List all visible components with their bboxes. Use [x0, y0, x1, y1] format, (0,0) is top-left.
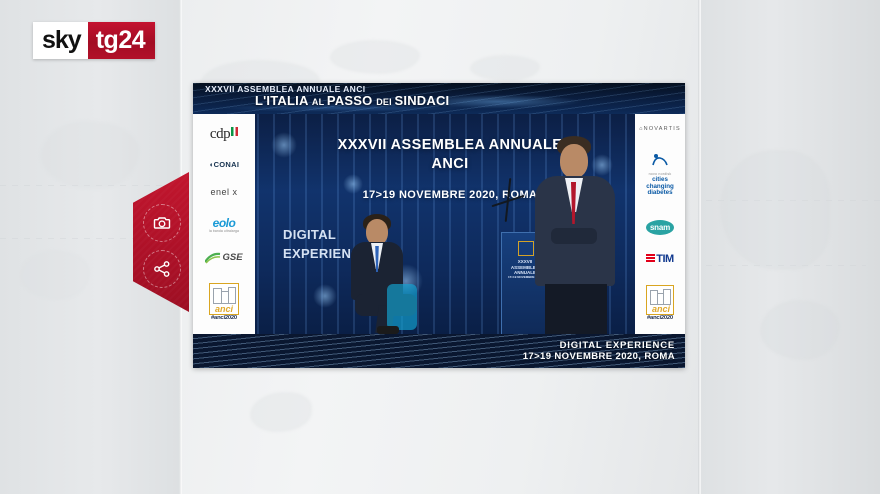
- video-frame[interactable]: XXXVII ASSEMBLEA ANNUALE ANCI L'ITALIA A…: [193, 83, 685, 368]
- sponsor-column-right: ⌂NOVARTIS novo nordisk cities changing d…: [635, 114, 685, 334]
- panel-divider-right: [698, 0, 701, 494]
- stage-area: cdp ◖CONAI enel x eolo la banda ultralar…: [193, 114, 685, 334]
- seated-panellist: [333, 214, 425, 334]
- anci-wordmark: anci: [211, 305, 237, 314]
- stage-screen: XXXVII ASSEMBLEA ANNUALE ANCI 17>19 NOVE…: [255, 114, 635, 334]
- standing-speaker: [523, 136, 633, 334]
- novo-nordisk-bull-icon: [650, 152, 670, 168]
- sponsor-eolo: eolo la banda ultralarga: [209, 217, 239, 233]
- banner-italia: L'ITALIA: [255, 93, 312, 108]
- anci-logo-icon: anci: [646, 285, 674, 315]
- camera-button[interactable]: [143, 204, 181, 242]
- sponsor-snam: snam: [646, 217, 674, 235]
- banner-passo: PASSO: [327, 93, 376, 108]
- sponsor-tim-label: TIM: [656, 253, 673, 265]
- anci-logo-icon: anci: [209, 283, 239, 315]
- gse-swoosh-icon: [205, 252, 221, 264]
- page-root: sky tg24 XXXVII ASSEMBLEA ANNUALE AN: [0, 0, 880, 494]
- sponsor-novartis: ⌂NOVARTIS: [639, 127, 681, 133]
- logo-tg24-text: tg24: [88, 22, 155, 59]
- banner-al: AL: [312, 97, 327, 107]
- sponsor-novo-nordisk: novo nordisk cities changing diabetes: [638, 152, 682, 197]
- tim-bars-icon: [646, 254, 655, 263]
- anci-hashtag-right: #anci2020: [646, 315, 674, 321]
- event-top-banner: XXXVII ASSEMBLEA ANNUALE ANCI L'ITALIA A…: [193, 83, 685, 114]
- bottom-banner-line2: 17>19 NOVEMBRE 2020, ROMA: [523, 351, 675, 362]
- italian-flag-icon: [231, 127, 238, 136]
- sponsor-anci-right: anci #anci2020: [646, 285, 674, 321]
- sponsor-cdp-label: cdp: [210, 126, 230, 142]
- sponsor-conai-label: CONAI: [214, 160, 240, 169]
- banner-sindaci: SINDACI: [395, 93, 450, 108]
- sponsor-column-left: cdp ◖CONAI enel x eolo la banda ultralar…: [193, 114, 255, 334]
- camera-icon: [152, 213, 172, 233]
- sponsor-cdp: cdp: [210, 127, 238, 143]
- anci-wordmark: anci: [648, 305, 674, 314]
- share-icon: [152, 259, 172, 279]
- sponsor-enel-x: enel x: [210, 188, 237, 197]
- sponsor-anci-left: anci #anci2020: [209, 283, 239, 321]
- sponsor-novo-label: cities changing diabetes: [638, 177, 682, 197]
- share-button[interactable]: [143, 250, 181, 288]
- event-bottom-banner: DIGITAL EXPERIENCE 17>19 NOVEMBRE 2020, …: [193, 334, 685, 368]
- sponsor-gse-label: GSE: [222, 253, 242, 263]
- banner-title-line2: L'ITALIA AL PASSO DEI SINDACI: [255, 93, 449, 108]
- sky-tg24-logo: sky tg24: [33, 22, 155, 59]
- sponsor-tim: TIM: [646, 254, 673, 266]
- sponsor-gse: GSE: [205, 252, 242, 264]
- anci-hashtag-left: #anci2020: [209, 315, 239, 321]
- sponsor-eolo-sub: la banda ultralarga: [209, 230, 239, 234]
- bottom-banner-line1: DIGITAL EXPERIENCE: [560, 340, 675, 351]
- sponsor-conai: ◖CONAI: [209, 161, 240, 169]
- banner-dei: DEI: [376, 97, 394, 107]
- logo-sky-text: sky: [33, 22, 88, 59]
- sponsor-eolo-label: eolo: [209, 217, 239, 230]
- sponsor-novartis-label: NOVARTIS: [644, 126, 681, 132]
- sponsor-snam-label: snam: [646, 220, 674, 235]
